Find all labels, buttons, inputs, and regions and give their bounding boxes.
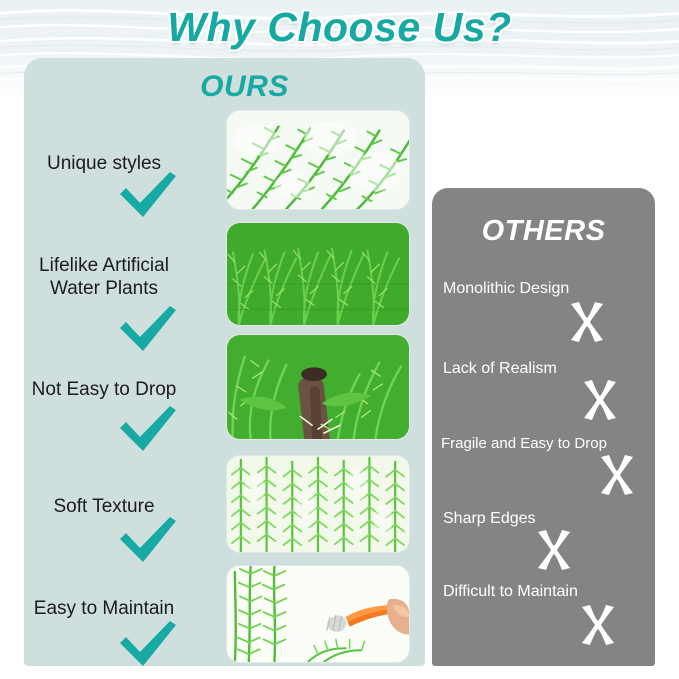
- cross-icon: [534, 530, 574, 570]
- cross-icon: [597, 455, 637, 495]
- others-heading: OTHERS: [432, 215, 655, 248]
- page-title: Why Choose Us?: [0, 4, 679, 51]
- cross-icon: [567, 302, 607, 342]
- ours-row-label: Not Easy to Drop: [6, 378, 202, 401]
- others-row-label: Lack of Realism: [443, 360, 557, 378]
- check-icon: [116, 172, 178, 220]
- others-row-label: Fragile and Easy to Drop: [441, 435, 607, 452]
- cross-icon: [580, 380, 620, 420]
- plant-stems-photo: [226, 110, 410, 210]
- others-row-label: Monolithic Design: [443, 280, 569, 298]
- ours-heading: OURS: [24, 70, 425, 104]
- feathery-foliage-photo: [226, 222, 410, 326]
- ours-row-label: Easy to Maintain: [6, 597, 202, 620]
- check-icon: [116, 406, 178, 454]
- check-icon: [116, 517, 178, 565]
- others-row-label: Sharp Edges: [443, 510, 536, 528]
- cross-icon: [578, 605, 618, 645]
- check-icon: [116, 306, 178, 354]
- ours-row-label: Lifelike Artificial Water Plants: [6, 254, 202, 300]
- others-row-label: Difficult to Maintain: [443, 583, 578, 601]
- dense-plants-photo: [226, 455, 410, 553]
- plant-base-photo: [226, 334, 410, 440]
- ours-row-label: Soft Texture: [6, 495, 202, 518]
- brush-cleaning-photo: [226, 565, 410, 663]
- comparison-infographic: Why Choose Us? OURS Unique styles: [0, 0, 679, 679]
- check-icon: [116, 621, 178, 669]
